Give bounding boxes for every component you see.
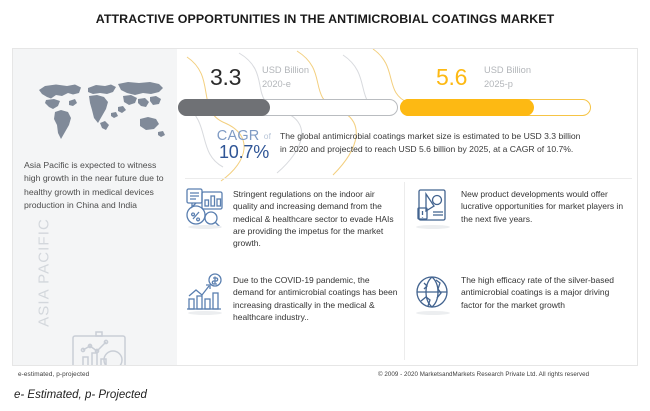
page-title: ATTRACTIVE OPPORTUNITIES IN THE ANTIMICR… [0, 12, 650, 26]
base-year-unit: USD Billion [262, 64, 309, 78]
base-year-caption: USD Billion 2020-e [262, 64, 309, 91]
horizontal-divider [185, 178, 632, 179]
cagr-block: CAGR of 10.7% [196, 128, 292, 163]
icon-shadow [188, 225, 222, 229]
globe-icon [412, 272, 454, 316]
document-barchart-magnifier-icon [184, 186, 226, 230]
icon-shadow [188, 311, 222, 315]
insight-card: Due to the COVID-19 pandemic, the demand… [184, 272, 398, 323]
product-launch-hand-icon [412, 186, 454, 230]
region-description: Asia Pacific is expected to witness high… [24, 159, 172, 213]
insight-card: The high efficacy rate of the silver-bas… [412, 272, 626, 316]
infographic-root: ATTRACTIVE OPPORTUNITIES IN THE ANTIMICR… [0, 0, 650, 411]
icon-shadow [416, 225, 450, 229]
forecast-year-year: 2025-p [484, 78, 531, 92]
insight-card: New product developments would offer luc… [412, 186, 626, 230]
base-year-bar-fill [178, 99, 270, 116]
copyright-text: © 2009 - 2020 MarketsandMarkets Research… [378, 371, 589, 378]
region-vertical-label: ASIA PACIFIC [36, 213, 53, 333]
insight-card-text: Due to the COVID-19 pandemic, the demand… [233, 272, 398, 323]
cagr-value: 10.7% [196, 142, 292, 163]
forecast-year-caption: USD Billion 2025-p [484, 64, 531, 91]
icon-shadow [416, 311, 450, 315]
vertical-divider [404, 182, 405, 360]
forecast-year-bar-fill [400, 99, 534, 116]
lead-paragraph: The global antimicrobial coatings market… [280, 130, 586, 155]
insight-card-text: The high efficacy rate of the silver-bas… [461, 272, 626, 311]
cagr-of-text: of [264, 131, 272, 141]
world-map-icon [25, 71, 171, 149]
asia-pacific-panel: Asia Pacific is expected to witness high… [13, 49, 177, 365]
footnote-legend: e-estimated, p-projected [18, 371, 89, 378]
bottom-caption: e- Estimated, p- Projected [14, 389, 147, 401]
forecast-year-unit: USD Billion [484, 64, 531, 78]
presentation-analytics-icon [65, 329, 139, 365]
insight-card-text: Stringent regulations on the indoor air … [233, 186, 398, 249]
base-year-year: 2020-e [262, 78, 309, 92]
forecast-year-value: 5.6 [436, 64, 467, 91]
growth-barchart-dollar-icon [184, 272, 226, 316]
insight-card-text: New product developments would offer luc… [461, 186, 626, 225]
forecast-year-bar-track [400, 99, 591, 116]
base-year-bar-track [178, 99, 398, 116]
insight-card: Stringent regulations on the indoor air … [184, 186, 398, 249]
base-year-value: 3.3 [210, 64, 241, 91]
